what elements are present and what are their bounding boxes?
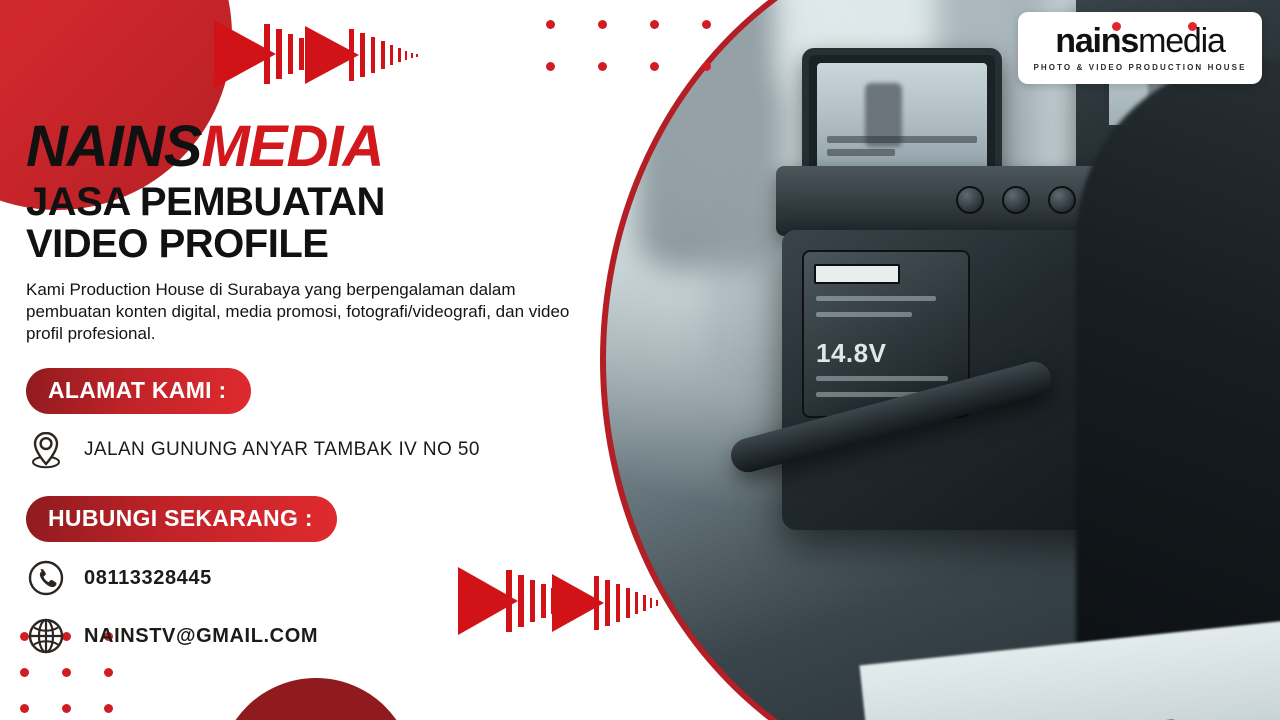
contact-badge: HUBUNGI SEKARANG : [26, 496, 337, 542]
battery-text-line [816, 376, 948, 381]
monitor-screen [817, 63, 987, 173]
dot [104, 668, 113, 677]
dot [598, 62, 607, 71]
dot [546, 62, 555, 71]
email-value: NAINSTV@GMAIL.COM [84, 625, 318, 648]
equipment-tray [859, 615, 1280, 720]
headline-brand-secondary: MEDIA [201, 114, 383, 179]
phone-icon [26, 556, 66, 600]
globe-icon [26, 614, 66, 658]
address-row: JALAN GUNUNG ANYAR TAMBAK IV NO 50 [26, 428, 606, 472]
dot [702, 62, 711, 71]
battery-text-line [816, 296, 936, 301]
logo-wordmark: nainsmedia [1055, 24, 1224, 58]
headline-brand: NAINSMEDIA [26, 118, 606, 176]
logo-name-bold: nains [1055, 22, 1138, 60]
logo-tagline: PHOTO & VIDEO PRODUCTION HOUSE [1033, 63, 1246, 72]
dot-grid-top [546, 20, 754, 104]
battery-voltage: 14.8V [816, 338, 886, 369]
poster-content: NAINSMEDIA JASA PEMBUATAN VIDEO PROFILE … [26, 118, 606, 658]
camera-knob [1048, 186, 1076, 214]
dot [20, 704, 29, 713]
monitor-ui-bar [827, 149, 895, 156]
bottom-accent-circle [218, 678, 414, 720]
dot [650, 20, 659, 29]
logo-badge: nainsmedia PHOTO & VIDEO PRODUCTION HOUS… [1018, 12, 1262, 84]
dot [598, 20, 607, 29]
poster-canvas: 14.8V [0, 0, 1280, 720]
phone-row[interactable]: 08113328445 [26, 556, 606, 600]
location-pin-icon [26, 428, 66, 472]
address-badge: ALAMAT KAMI : [26, 368, 251, 414]
operator-silhouette [1076, 60, 1280, 700]
body-copy: Kami Production House di Surabaya yang b… [26, 279, 574, 344]
headline-service-line1: JASA PEMBUATAN [26, 182, 606, 224]
hero-photo: 14.8V [606, 0, 1280, 720]
address-value: JALAN GUNUNG ANYAR TAMBAK IV NO 50 [84, 439, 480, 461]
phone-value: 08113328445 [84, 567, 212, 590]
dot [546, 20, 555, 29]
dot [62, 668, 71, 677]
play-arrow-icon [305, 24, 455, 86]
dot [62, 704, 71, 713]
dot [702, 20, 711, 29]
camera-knob [1002, 186, 1030, 214]
email-row[interactable]: NAINSTV@GMAIL.COM [26, 614, 606, 658]
logo-name-light: media [1138, 22, 1225, 60]
camera-knob [956, 186, 984, 214]
headline-service-line2: VIDEO PROFILE [26, 224, 606, 266]
battery-label [814, 264, 900, 284]
headline-brand-primary: NAINS [26, 114, 201, 179]
monitor-ui-bar [827, 136, 977, 143]
dot [650, 62, 659, 71]
battery-text-line [816, 312, 912, 317]
headline-service: JASA PEMBUATAN VIDEO PROFILE [26, 182, 606, 265]
photo-image: 14.8V [606, 0, 1280, 720]
dot [20, 668, 29, 677]
dot [104, 704, 113, 713]
